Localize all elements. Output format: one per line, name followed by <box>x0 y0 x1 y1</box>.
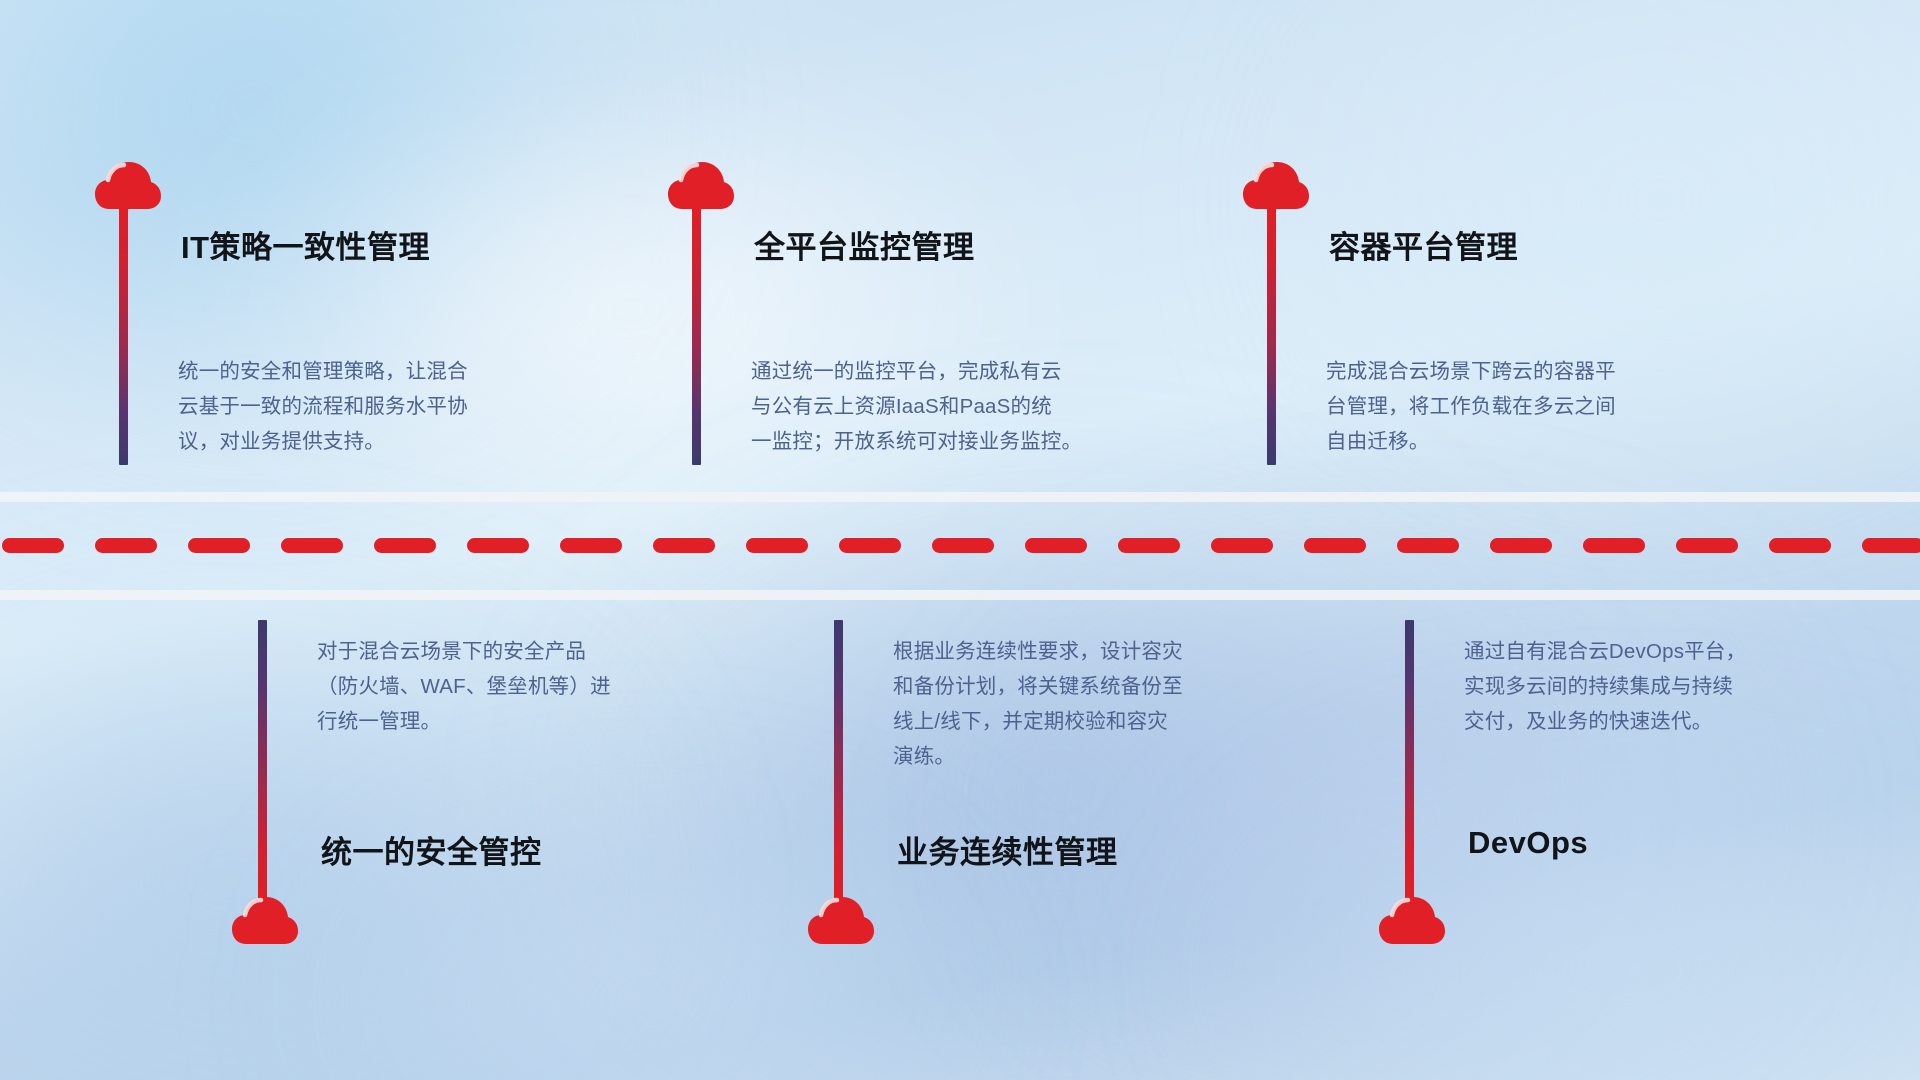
road-dash <box>95 538 157 553</box>
column-body: 根据业务连续性要求，设计容灾 和备份计划，将关键系统备份至 线上/线下，并定期校… <box>893 634 1293 774</box>
road-dash <box>1769 538 1831 553</box>
column-body: 统一的安全和管理策略，让混合 云基于一致的流程和服务水平协 议，对业务提供支持。 <box>178 354 578 459</box>
cloud-icon <box>95 160 161 210</box>
cloud-icon <box>232 895 298 945</box>
body-line: 一监控；开放系统可对接业务监控。 <box>751 424 1151 459</box>
column-stem <box>692 205 701 465</box>
infographic-canvas: IT策略一致性管理 统一的安全和管理策略，让混合 云基于一致的流程和服务水平协 … <box>0 0 1920 1080</box>
road-dash <box>1211 538 1273 553</box>
body-line: （防火墙、WAF、堡垒机等）进 <box>317 669 717 704</box>
road-edge-top <box>0 492 1920 502</box>
column-stem <box>834 620 843 905</box>
road-dash <box>188 538 250 553</box>
road-dash <box>1862 538 1920 553</box>
road-dash <box>839 538 901 553</box>
body-line: 台管理，将工作负载在多云之间 <box>1326 389 1726 424</box>
body-line: 实现多云间的持续集成与持续 <box>1464 669 1864 704</box>
cloud-icon <box>1379 895 1445 945</box>
body-line: 云基于一致的流程和服务水平协 <box>178 389 578 424</box>
road-dash <box>1025 538 1087 553</box>
road-dashed-line <box>0 538 1920 553</box>
column-body: 对于混合云场景下的安全产品 （防火墙、WAF、堡垒机等）进 行统一管理。 <box>317 634 717 739</box>
cloud-icon <box>808 895 874 945</box>
road-dash <box>1304 538 1366 553</box>
column-stem <box>258 620 267 905</box>
body-line: 线上/线下，并定期校验和容灾 <box>893 704 1293 739</box>
road-dash <box>2 538 64 553</box>
road-dash <box>1490 538 1552 553</box>
body-line: 完成混合云场景下跨云的容器平 <box>1326 354 1726 389</box>
cloud-icon <box>1243 160 1309 210</box>
body-line: 根据业务连续性要求，设计容灾 <box>893 634 1293 669</box>
road-dash <box>746 538 808 553</box>
road-dash <box>281 538 343 553</box>
column-title: 业务连续性管理 <box>897 827 1118 872</box>
body-line: 议，对业务提供支持。 <box>178 424 578 459</box>
column-title: IT策略一致性管理 <box>181 222 430 267</box>
road-dash <box>560 538 622 553</box>
road-dash <box>932 538 994 553</box>
road-dash <box>1583 538 1645 553</box>
body-line: 通过自有混合云DevOps平台， <box>1464 634 1864 669</box>
column-body: 通过自有混合云DevOps平台， 实现多云间的持续集成与持续 交付，及业务的快速… <box>1464 634 1864 739</box>
road-dash <box>374 538 436 553</box>
body-line: 和备份计划，将关键系统备份至 <box>893 669 1293 704</box>
road-dash <box>1118 538 1180 553</box>
body-line: 统一的安全和管理策略，让混合 <box>178 354 578 389</box>
column-title: DevOps <box>1468 825 1588 861</box>
column-title: 全平台监控管理 <box>754 222 975 267</box>
column-body: 通过统一的监控平台，完成私有云 与公有云上资源IaaS和PaaS的统 一监控；开… <box>751 354 1151 459</box>
body-line: 自由迁移。 <box>1326 424 1726 459</box>
road-dash <box>467 538 529 553</box>
column-stem <box>1405 620 1414 905</box>
road-edge-bottom <box>0 590 1920 600</box>
column-title: 容器平台管理 <box>1329 222 1518 267</box>
body-line: 行统一管理。 <box>317 704 717 739</box>
road-dash <box>1397 538 1459 553</box>
body-line: 通过统一的监控平台，完成私有云 <box>751 354 1151 389</box>
column-stem <box>119 205 128 465</box>
road-dash <box>1676 538 1738 553</box>
column-stem <box>1267 205 1276 465</box>
cloud-icon <box>668 160 734 210</box>
body-line: 与公有云上资源IaaS和PaaS的统 <box>751 389 1151 424</box>
body-line: 对于混合云场景下的安全产品 <box>317 634 717 669</box>
column-title: 统一的安全管控 <box>321 827 542 872</box>
column-body: 完成混合云场景下跨云的容器平 台管理，将工作负载在多云之间 自由迁移。 <box>1326 354 1726 459</box>
body-line: 交付，及业务的快速迭代。 <box>1464 704 1864 739</box>
body-line: 演练。 <box>893 739 1293 774</box>
road-dash <box>653 538 715 553</box>
